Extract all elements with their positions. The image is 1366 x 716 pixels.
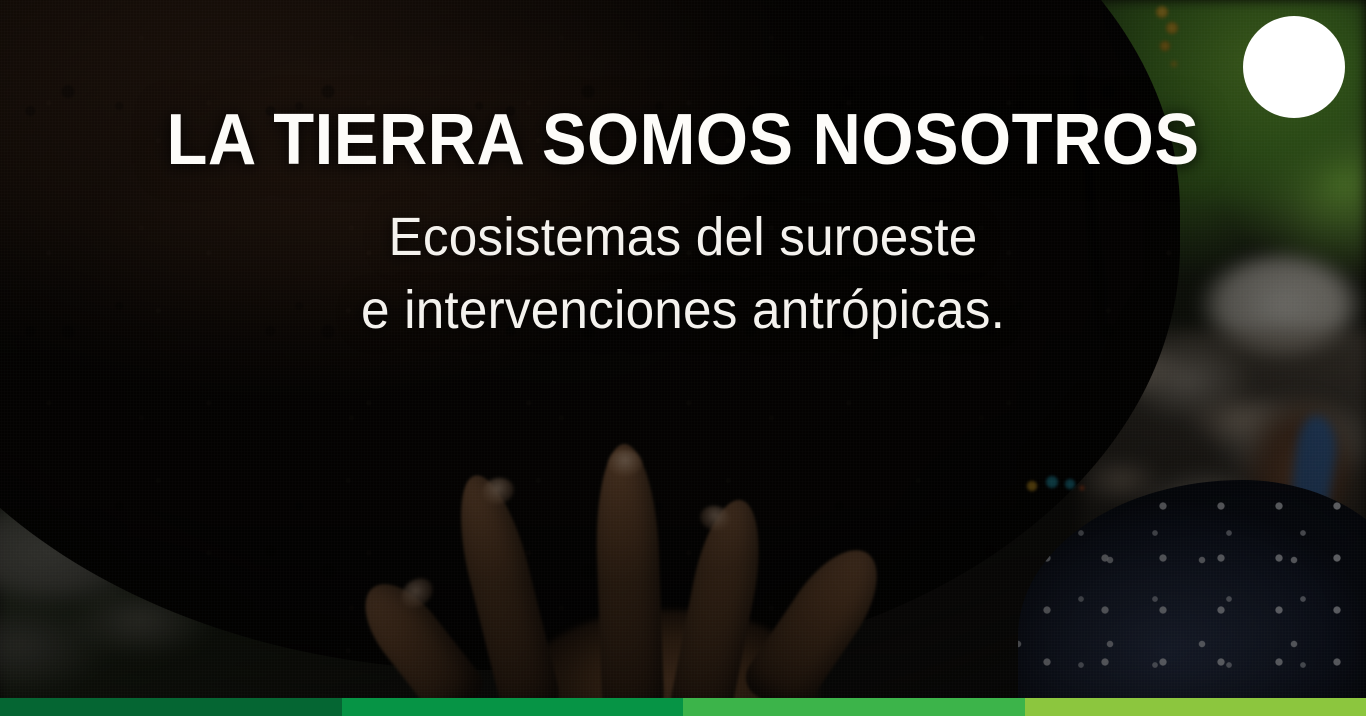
hero-banner: LA TIERRA SOMOS NOSOTROS Ecosistemas del…: [0, 0, 1366, 716]
colorbar-segment-1: [0, 698, 342, 716]
colorbar-segment-3: [683, 698, 1025, 716]
banner-subtitle-line-1: Ecosistemas del suroeste: [34, 201, 1332, 273]
colorbar-segment-2: [342, 698, 684, 716]
banner-headline: LA TIERRA SOMOS NOSOTROS: [48, 104, 1318, 177]
banner-text-block: LA TIERRA SOMOS NOSOTROS Ecosistemas del…: [0, 104, 1366, 346]
colorbar-segment-4: [1025, 698, 1366, 716]
bottom-color-bar: [0, 698, 1366, 716]
banner-subtitle-line-2: e intervenciones antrópicas.: [34, 274, 1332, 346]
es-monogram-logo[interactable]: [1243, 16, 1345, 118]
